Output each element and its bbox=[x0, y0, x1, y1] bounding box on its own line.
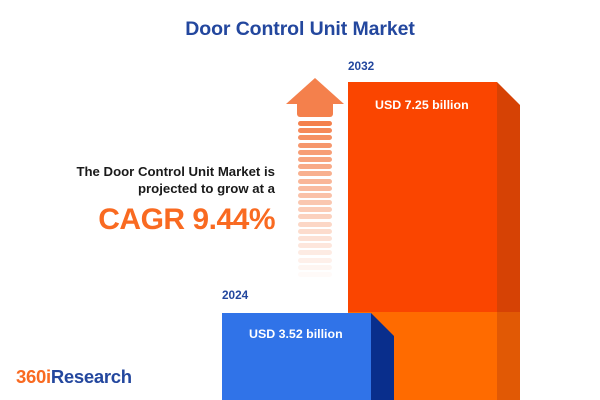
bar-value-2032: USD 7.25 billion bbox=[375, 98, 469, 112]
arrow-segment bbox=[298, 229, 332, 234]
arrow-segment bbox=[298, 200, 332, 205]
arrow-segment bbox=[298, 186, 332, 191]
arrow-segment bbox=[298, 265, 332, 270]
arrow-segment bbox=[298, 150, 332, 155]
year-label-2032: 2032 bbox=[348, 59, 374, 73]
logo-prefix: 360i bbox=[16, 366, 51, 387]
arrow-segment bbox=[298, 250, 332, 255]
arrow-segment bbox=[298, 143, 332, 148]
cagr-lead-line-1: The Door Control Unit Market is bbox=[30, 163, 275, 180]
arrow-segment bbox=[298, 135, 332, 140]
year-label-2024: 2024 bbox=[222, 288, 248, 302]
cagr-lead-text: The Door Control Unit Market is projecte… bbox=[30, 163, 285, 197]
arrow-segment bbox=[298, 272, 332, 277]
arrow-head-icon bbox=[286, 78, 344, 104]
page-title: Door Control Unit Market bbox=[0, 18, 600, 41]
logo-360iresearch: 360iResearch bbox=[16, 366, 132, 388]
cagr-callout: The Door Control Unit Market is projecte… bbox=[30, 163, 285, 237]
arrow-segment bbox=[298, 193, 332, 198]
arrow-segment bbox=[298, 258, 332, 263]
cagr-lead-line-2: projected to grow at a bbox=[30, 180, 275, 197]
arrow-segment bbox=[298, 243, 332, 248]
arrow-segment bbox=[298, 279, 332, 284]
arrow-segment bbox=[298, 128, 332, 133]
arrow-segment bbox=[298, 164, 332, 169]
cagr-value: CAGR 9.44% bbox=[30, 203, 285, 237]
arrow-segment bbox=[298, 214, 332, 219]
arrow-segment bbox=[298, 236, 332, 241]
arrow-segment bbox=[298, 207, 332, 212]
arrow-neck bbox=[297, 104, 333, 117]
arrow-segment bbox=[298, 222, 332, 227]
arrow-segment bbox=[298, 171, 332, 176]
infographic-canvas: Door Control Unit Market The Door Contro… bbox=[0, 0, 600, 400]
growth-arrow-icon bbox=[286, 78, 344, 296]
arrow-segment bbox=[298, 179, 332, 184]
arrow-shaft bbox=[298, 121, 332, 296]
bar-value-2024: USD 3.52 billion bbox=[249, 327, 343, 341]
logo-suffix: Research bbox=[51, 366, 132, 387]
bar-2032-lower-band-side bbox=[497, 312, 520, 400]
arrow-segment bbox=[298, 121, 332, 126]
arrow-segment bbox=[298, 157, 332, 162]
